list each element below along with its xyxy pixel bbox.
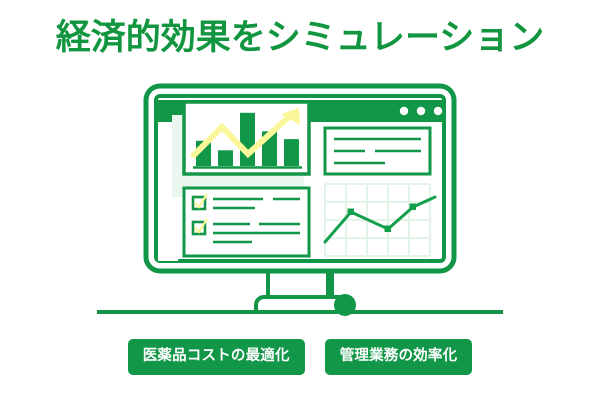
titlebar-dot-icon [400,107,408,115]
text-card-panel [325,128,430,174]
bar [284,139,299,166]
titlebar-dot-icon [417,107,425,115]
bar [218,150,233,166]
line-chart-marker [410,204,417,211]
titlebar-dot-icon [434,107,442,115]
tag-button-admin-efficiency[interactable]: 管理業務の効率化 [325,339,473,375]
tag-button-row: 医薬品コストの最適化 管理業務の効率化 [0,339,600,375]
illustration-monitor-dashboard [0,72,600,332]
page-title: 経済的効果をシミュレーション [0,16,600,60]
page-root: 経済的効果をシミュレーション [0,0,600,400]
monitor-stand-base-knob [334,294,356,316]
bar [240,113,255,166]
tag-button-drug-cost[interactable]: 医薬品コストの最適化 [128,339,305,375]
line-chart-marker [348,209,355,216]
checklist-panel [184,188,309,256]
bar-chart-panel [184,102,309,174]
line-chart-marker [385,226,392,233]
